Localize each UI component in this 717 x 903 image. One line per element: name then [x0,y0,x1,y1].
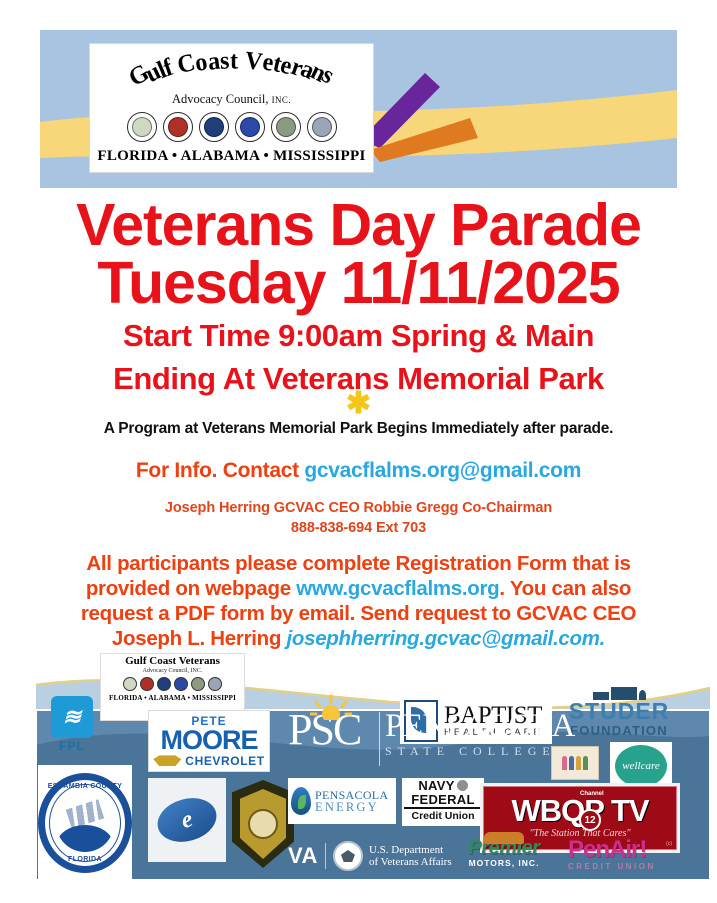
header-banner: Gulf Coast Veterans Advocacy Council, IN… [40,30,677,188]
registration-website-link[interactable]: www.gcvacflalms.org [296,577,499,600]
psc-divider [379,712,381,766]
escambia-top-text: ESCAMBIA COUNTY [45,783,125,790]
marine-corps-seal [163,112,193,142]
sponsor-fpl: ≋ FPL [42,696,102,748]
sheriff-badge-icon [240,789,286,859]
coast-guard-seal [271,112,301,142]
fpl-mark-icon: ≋ [51,696,93,738]
navy-federal-line2: FEDERAL [404,793,482,810]
gcvac-states: FLORIDA • ALABAMA • MISSISSIPPI [90,148,373,165]
penair-bang: ! [639,836,646,863]
registration-line2-post: . You can also [499,577,631,600]
psc-sun-icon [310,694,352,720]
gcvac-name-top: Gulf Coast Veterans [90,47,373,75]
military-seals-row [90,112,373,142]
asterisk-icon: ✱ [0,389,717,419]
penair-name: PenAir [568,836,639,863]
officers-phone: 888-838-694 Ext 703 [0,519,717,539]
family-figures-icon [552,756,598,770]
pensacola-energy-drop-icon [291,787,311,815]
contact-label: For Info. Contact [136,459,299,482]
registration-line1: All participants please complete Registr… [42,551,675,576]
national-guard-seal-small [208,677,222,691]
globe-icon [457,780,468,791]
sponsor-psc-mark: PSC [288,708,376,772]
navy-seal-small [157,677,171,691]
marine-corps-seal-small [140,677,154,691]
sponsor-premier-motors: Premier MOTORS, INC. [452,838,556,876]
wbqp-call-1: WB [511,793,561,828]
navy-federal-line3: Credit Union [404,810,482,822]
penair-sub: CREDIT UNION [568,862,680,871]
va-line2: of Veterans Affairs [369,856,452,868]
sponsor-pensacola-energy: PENSACOLA ENERGY [288,778,396,824]
registration-line3: request a PDF form by email. Send reques… [42,601,675,626]
registration-line2-pre: provided on webpage [86,577,296,600]
e-swoosh-icon: e [152,792,221,849]
escambia-seal-icon: ESCAMBIA COUNTY FLORIDA [38,773,132,873]
air-force-seal-small [174,677,188,691]
navy-seal [199,112,229,142]
sponsor-navy-federal-credit-union: NAVY FEDERAL Credit Union [402,778,484,826]
coast-guard-seal-small [191,677,205,691]
gcvac-subtitle-inc: INC. [272,95,291,105]
contact-line: For Info. Contact gcvacflalms.org@gmail.… [0,459,717,483]
page-title-line1: Veterans Day Parade [0,196,717,255]
sponsor-family-logo [551,746,599,780]
air-force-seal [235,112,265,142]
va-divider [325,843,326,869]
fpl-label: FPL [42,739,102,753]
premier-car-icon [484,832,524,844]
va-seal-icon [333,841,363,871]
army-seal-small [123,677,137,691]
sponsor-penair-credit-union: PenAir! CREDIT UNION [568,838,680,876]
pensacola-energy-line1: PENSACOLA [315,789,388,801]
wbqp-channel-label: Channel [580,791,604,797]
navy-federal-line1: NAVY [418,778,454,793]
pensacola-state-line1: PENSACOLA [385,710,595,743]
officers-block: Joseph Herring GCVAC CEO Robbie Gregg Co… [0,499,717,538]
contact-email-link[interactable]: gcvacflalms.org@gmail.com [304,459,581,482]
gcvac-small-states: FLORIDA • ALABAMA • MISSISSIPPI [103,694,242,702]
pete-moore-line2: MOORE [151,728,267,753]
sponsor-escambia-county: ESCAMBIA COUNTY FLORIDA [38,765,132,880]
gcvac-small-name: Gulf Coast Veterans [103,656,242,668]
national-guard-seal [307,112,337,142]
wellcare-label: wellcare [622,760,659,772]
chevrolet-bowtie-icon [153,755,181,766]
gcvac-small-seals [103,677,242,691]
studer-building-icon [560,680,678,700]
registration-line4-pre: Joseph L. Herring [112,627,287,650]
wbqp-channel-number: 12 [579,809,601,831]
army-seal [127,112,157,142]
gcvac-small-sub: Advocacy Council, INC. [103,668,242,674]
va-line1: U.S. Department [369,844,443,856]
registration-email-link[interactable]: josephherring.gcvac@gmail.com. [286,627,605,650]
registration-block: All participants please complete Registr… [42,551,675,651]
registration-line2: provided on webpage www.gcvacflalms.org.… [42,576,675,601]
officers-names: Joseph Herring GCVAC CEO Robbie Gregg Co… [0,499,717,519]
premier-sub: MOTORS, INC. [452,858,556,868]
start-time-line: Start Time 9:00am Spring & Main [0,320,717,351]
va-abbr: VA [288,843,318,869]
sponsor-e-swoosh: e [148,778,226,862]
pensacola-energy-line2: ENERGY [315,801,388,814]
sponsor-strip: ≋ FPL Gulf Coast Veterans Advocacy Counc… [0,650,717,890]
pete-moore-line3: CHEVROLET [185,754,264,768]
registration-line4: Joseph L. Herring josephherring.gcvac@gm… [42,626,675,651]
flyer-page: Gulf Coast Veterans Advocacy Council, IN… [0,0,717,903]
sponsor-va: VA U.S. Department of Veterans Affairs [288,838,468,874]
gcvac-logo: Gulf Coast Veterans Advocacy Council, IN… [89,43,374,173]
escambia-bottom-text: FLORIDA [45,856,125,863]
sponsor-pete-moore-chevrolet: PETE MOORE CHEVROLET [148,710,270,772]
program-note: A Program at Veterans Memorial Park Begi… [0,420,717,438]
page-title-line2: Tuesday 11/11/2025 [0,254,717,313]
wellcare-oval-icon: wellcare [615,745,667,787]
gcvac-arc-name: Gulf Coast Veterans [90,44,373,96]
